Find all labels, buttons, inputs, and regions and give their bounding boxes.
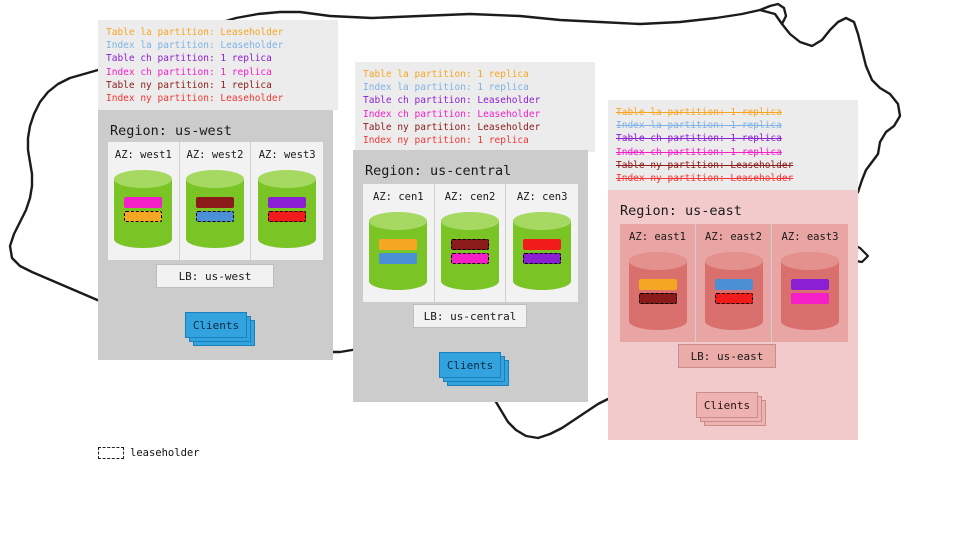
replica-stripe [268,197,306,208]
replica-stripe [379,253,417,264]
partition-status-panel-us-central: Table la partition: 1 replicaIndex la pa… [355,62,595,152]
partition-status-line: Index ny partition: Leaseholder [616,172,850,185]
az-label: AZ: cen1 [373,191,424,203]
partition-status-line: Table ch partition: 1 replica [106,52,330,65]
az-panel-east1[interactable]: AZ: east1 [620,224,696,342]
replica-stripe-leaseholder [196,211,234,222]
region-title-us-west: Region: us-west [110,123,232,139]
replica-stripe [379,239,417,250]
partition-status-line: Table la partition: Leaseholder [106,26,330,39]
clients-card[interactable]: Clients [439,352,501,378]
az-label: AZ: east3 [782,231,839,243]
leaseholder-legend-label: leaseholder [130,447,200,459]
partition-status-line: Index ny partition: 1 replica [363,134,587,147]
replica-stripe [124,197,162,208]
database-node-icon[interactable] [441,212,499,290]
az-panel-west3[interactable]: AZ: west3 [251,142,323,260]
partition-status-line: Table ny partition: Leaseholder [616,159,850,172]
clients-stack-us-east[interactable]: Clients [696,392,768,428]
replica-stripe-leaseholder [268,211,306,222]
partition-status-line: Table la partition: 1 replica [363,68,587,81]
replica-stripe [791,279,829,290]
clients-stack-us-central[interactable]: Clients [439,352,511,388]
az-label: AZ: west2 [187,149,244,161]
az-label: AZ: east2 [705,231,762,243]
replica-stripe-leaseholder [523,253,561,264]
clients-card[interactable]: Clients [696,392,758,418]
database-node-icon[interactable] [705,252,763,330]
database-node-icon[interactable] [258,170,316,248]
database-node-icon[interactable] [114,170,172,248]
az-panel-cen3[interactable]: AZ: cen3 [506,184,578,302]
az-panel-west1[interactable]: AZ: west1 [108,142,180,260]
load-balancer-us-east[interactable]: LB: us-east [678,344,776,368]
load-balancer-us-west[interactable]: LB: us-west [156,264,274,288]
database-node-icon[interactable] [369,212,427,290]
partition-status-line: Index la partition: Leaseholder [106,39,330,52]
az-row-us-east: AZ: east1 AZ: east2 AZ: east3 [620,224,848,342]
replica-stripe-leaseholder [715,293,753,304]
az-panel-cen1[interactable]: AZ: cen1 [363,184,435,302]
partition-status-line: Table ny partition: Leaseholder [363,121,587,134]
database-node-icon[interactable] [186,170,244,248]
az-row-us-central: AZ: cen1 AZ: cen2 AZ: cen3 [363,184,578,302]
partition-status-line: Table ch partition: Leaseholder [363,94,587,107]
region-title-us-east: Region: us-east [620,203,742,219]
az-label: AZ: west1 [115,149,172,161]
az-row-us-west: AZ: west1 AZ: west2 AZ: west3 [108,142,323,260]
partition-status-line: Table ch partition: 1 replica [616,132,850,145]
az-label: AZ: west3 [259,149,316,161]
az-label: AZ: cen3 [517,191,568,203]
partition-status-line: Index ch partition: 1 replica [106,66,330,79]
partition-status-line: Index ch partition: 1 replica [616,146,850,159]
az-label: AZ: east1 [629,231,686,243]
replica-stripe-leaseholder [451,239,489,250]
load-balancer-us-central[interactable]: LB: us-central [413,304,527,328]
clients-stack-us-west[interactable]: Clients [185,312,257,348]
dashed-rect-icon [98,447,124,459]
replica-stripe [523,239,561,250]
replica-stripe [639,279,677,290]
partition-status-line: Table la partition: 1 replica [616,106,850,119]
region-title-us-central: Region: us-central [365,163,511,179]
leaseholder-legend: leaseholder [98,447,200,459]
database-node-icon[interactable] [513,212,571,290]
az-panel-west2[interactable]: AZ: west2 [180,142,252,260]
replica-stripe [196,197,234,208]
clients-card[interactable]: Clients [185,312,247,338]
partition-status-line: Index ch partition: Leaseholder [363,108,587,121]
replica-stripe-leaseholder [639,293,677,304]
az-panel-east3[interactable]: AZ: east3 [772,224,848,342]
partition-status-line: Index ny partition: Leaseholder [106,92,330,105]
database-node-icon[interactable] [629,252,687,330]
partition-status-line: Index la partition: 1 replica [616,119,850,132]
partition-status-line: Index la partition: 1 replica [363,81,587,94]
az-panel-east2[interactable]: AZ: east2 [696,224,772,342]
partition-status-line: Table ny partition: 1 replica [106,79,330,92]
replica-stripe-leaseholder [124,211,162,222]
az-panel-cen2[interactable]: AZ: cen2 [435,184,507,302]
database-node-icon[interactable] [781,252,839,330]
az-label: AZ: cen2 [445,191,496,203]
replica-stripe [791,293,829,304]
partition-status-panel-us-east: Table la partition: 1 replicaIndex la pa… [608,100,858,192]
replica-stripe [715,279,753,290]
replica-stripe-leaseholder [451,253,489,264]
partition-status-panel-us-west: Table la partition: LeaseholderIndex la … [98,20,338,110]
